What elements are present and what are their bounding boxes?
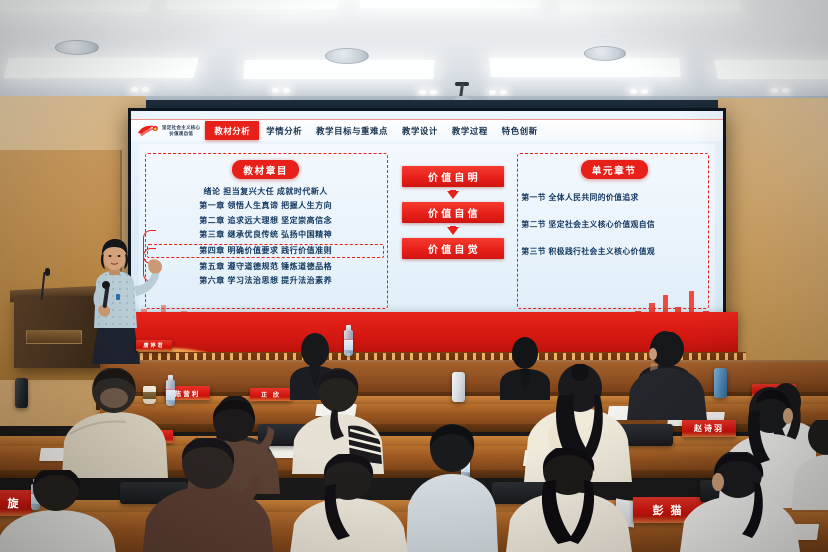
chapter-row: 第二章 追求远大理想 坚定崇高信念 [149,215,382,226]
ceiling-panel-light [559,0,741,11]
audience-member [290,454,410,552]
ceiling-downlight [430,90,437,95]
tab-jiaoxue-mubiao[interactable]: 教学目标与重难点 [309,122,395,140]
down-arrow-icon [447,191,459,199]
thermos-bottle [452,372,465,402]
chapter-row-highlighted: 第四章 明确价值要求 践行价值准则 [147,244,384,258]
tab-xueqing-fenxi[interactable]: 学情分析 [259,122,309,140]
slide-content: 坚定社会主义核心 价值观自信 教材分析 学情分析 教学目标与重难点 教学设计 教… [131,111,723,323]
ceiling-panel-light [360,0,541,8]
down-arrow-icon [447,227,459,235]
left-panel-heading: 教材章目 [232,160,299,179]
audience-member [680,452,800,552]
nameplate-tang: 唐婷君 [136,340,172,351]
chapter-row: 第三章 继承优良传统 弘扬中国精神 [149,229,382,240]
chapter-row: 第五章 遵守道德规范 锤炼道德品格 [149,261,382,272]
value-step-3: 价值自觉 [402,238,504,259]
chapter-row: 第一章 领悟人生真谛 把握人生方向 [149,200,382,211]
chapter-row: 第六章 学习法治思想 提升法治素养 [149,275,382,286]
water-bottle [344,330,353,356]
audience-member [140,438,276,552]
ceiling-panel-light [714,60,828,79]
ceiling-panel-light [0,0,153,12]
audience-member [624,332,710,420]
classroom-scene: 坚定社会主义核心 价值观自信 教材分析 学情分析 教学目标与重难点 教学设计 教… [0,0,828,552]
ceiling-downlight [782,88,789,93]
projection-screen: 坚定社会主义核心 价值观自信 教材分析 学情分析 教学目标与重难点 教学设计 教… [128,108,726,326]
tab-jiaoxue-guocheng[interactable]: 教学过程 [445,122,495,140]
ceiling-downlight [419,90,426,95]
slide-nav-items: 教材分析 学情分析 教学目标与重难点 教学设计 教学过程 特色创新 [205,121,723,140]
ceiling-downlight [771,88,778,93]
tab-jiaocai-fenxi[interactable]: 教材分析 [205,121,259,140]
ceiling-downlight [641,89,648,94]
ceiling-downlight [131,87,138,92]
chapter-row: 绪论 担当复兴大任 成就时代新人 [149,186,382,197]
nameplate-text: 陈营利 [175,388,201,398]
ceiling-panel-light [489,58,681,77]
bottle-label [344,339,353,351]
textbook-chapters-panel: 教材章目 绪论 担当复兴大任 成就时代新人 第一章 领悟人生真谛 把握人生方向 … [139,144,392,317]
flag-logo-icon [137,124,159,137]
tab-tese-chuangxin[interactable]: 特色创新 [495,122,545,140]
section-row: 第三节 积极践行社会主义核心价值观 [521,246,707,257]
lectern-nameplate [26,330,82,344]
ceiling-downlight [142,87,149,92]
value-step-1: 价值自明 [402,166,504,187]
value-step-2: 价值自信 [402,202,504,223]
slide-logo: 坚定社会主义核心 价值观自信 [135,124,205,137]
microphone-icon [45,268,50,276]
nameplate-text: 赵诗羽 [694,423,724,434]
ceiling-panel-light [4,58,199,78]
audience-member [792,420,828,510]
ceiling-downlight [630,89,637,94]
ceiling-downlight [500,90,507,95]
tab-jiaoxue-sheji[interactable]: 教学设计 [395,122,445,140]
right-panel-heading: 单元章节 [581,160,648,179]
nameplate-text: 旋 [8,495,21,511]
nameplate-text: 正 欣 [261,390,281,399]
value-progression-panel: 价值自明 价值自信 价值自觉 [392,144,513,317]
ceiling-speaker [325,48,369,64]
ceiling-speaker [584,46,626,61]
ceiling-downlight [272,88,279,93]
section-row: 第二节 坚定社会主义核心价值观自信 [521,219,707,230]
audience-member [0,470,120,552]
nameplate-text: 彭 猫 [652,502,683,518]
ceiling-downlight [489,90,496,95]
ceiling-downlight [283,88,290,93]
chapter-list: 绪论 担当复兴大任 成就时代新人 第一章 领悟人生真谛 把握人生方向 第二章 追… [139,186,392,286]
nameplate-text: 唐婷君 [143,342,164,349]
thermos-bottle [15,378,28,408]
ceiling-panel-light [166,0,339,9]
audience-member [404,424,500,552]
ceiling-speaker [55,40,99,55]
section-list: 第一节 全体人民共同的价值追求 第二节 坚定社会主义核心价值观自信 第三节 积极… [513,192,715,257]
slide-nav-bar: 坚定社会主义核心 价值观自信 教材分析 学情分析 教学目标与重难点 教学设计 教… [131,119,723,141]
slide-logo-text: 坚定社会主义核心 价值观自信 [162,125,200,136]
section-row: 第一节 全体人民共同的价值追求 [521,192,707,203]
audience-member [506,448,632,552]
